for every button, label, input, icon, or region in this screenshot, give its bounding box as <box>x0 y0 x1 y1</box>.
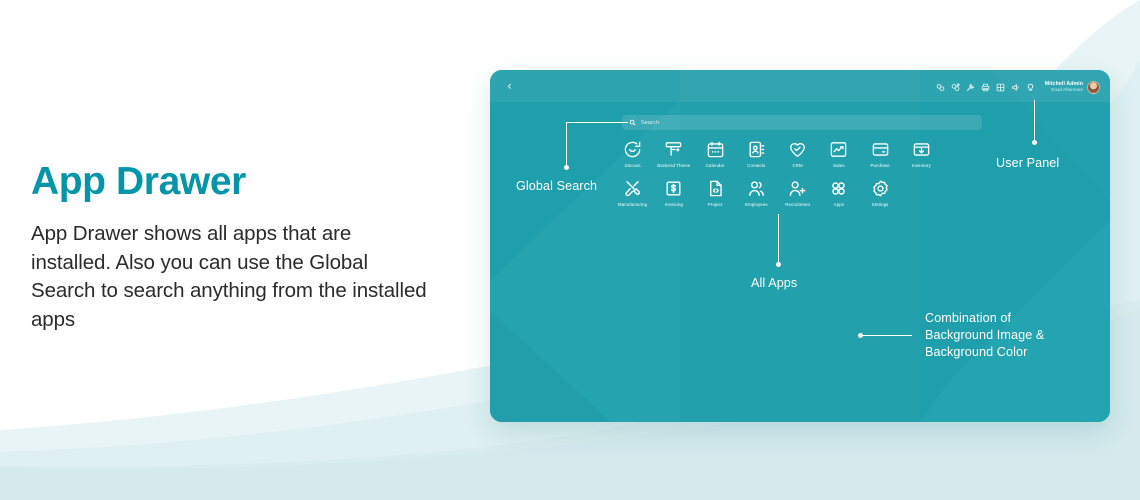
back-button[interactable]: ‹ <box>507 80 512 92</box>
project-icon <box>706 179 725 198</box>
app-crm[interactable]: CRM <box>777 140 818 168</box>
discuss-icon <box>623 140 642 159</box>
background-leader-dot <box>858 333 863 338</box>
app-discuss[interactable]: Discuss <box>612 140 653 168</box>
settings-icon <box>871 179 890 198</box>
avatar[interactable] <box>1087 81 1100 94</box>
invoicing-icon <box>664 179 683 198</box>
grid-icon[interactable] <box>996 83 1005 92</box>
app-apps[interactable]: Apps <box>818 179 859 207</box>
app-label: Apps <box>834 202 844 207</box>
manufacturing-icon <box>623 179 642 198</box>
all-apps-leader-vertical <box>778 214 779 264</box>
background-leader-horizontal <box>862 335 912 336</box>
app-label: Employees <box>745 202 768 207</box>
app-settings[interactable]: Settings <box>860 179 901 207</box>
annotation-background-line1: Combination of <box>925 310 1115 327</box>
app-inventory[interactable]: Inventory <box>901 140 942 168</box>
app-label: Sales <box>833 163 845 168</box>
bulb-icon[interactable] <box>1026 83 1035 92</box>
all-apps-leader-dot <box>776 262 781 267</box>
search-placeholder: Search <box>641 120 659 126</box>
annotation-background-line3: Background Color <box>925 344 1115 361</box>
global-search-leader-vertical <box>566 122 567 167</box>
app-employees[interactable]: Employees <box>736 179 777 207</box>
backend-theme-icon <box>664 140 683 159</box>
app-project[interactable]: Project <box>695 179 736 207</box>
inventory-icon <box>912 140 931 159</box>
app-calendar[interactable]: Calendar <box>695 140 736 168</box>
user-panel[interactable]: Mitchell Admin Good Afternoon <box>1045 81 1100 94</box>
shortcut-icon[interactable] <box>966 83 975 92</box>
global-search-leader-dot <box>564 165 569 170</box>
purchase-icon <box>871 140 890 159</box>
global-search-leader-horizontal <box>566 122 628 123</box>
annotation-background-line2: Background Image & <box>925 327 1115 344</box>
app-manufacturing[interactable]: Manufacturing <box>612 179 653 207</box>
app-label: Discuss <box>625 163 641 168</box>
app-invoicing[interactable]: Invoicing <box>653 179 694 207</box>
messages-icon[interactable] <box>951 83 960 92</box>
app-label: Backend Theme <box>657 163 690 168</box>
app-label: Contacts <box>747 163 765 168</box>
calendar-icon <box>706 140 725 159</box>
annotation-background: Combination of Background Image & Backgr… <box>925 310 1115 361</box>
app-label: Manufacturing <box>618 202 647 207</box>
user-panel-leader-dot <box>1032 140 1037 145</box>
app-purchase[interactable]: Purchase <box>860 140 901 168</box>
app-label: Calendar <box>706 163 725 168</box>
app-recruitment[interactable]: Recruitment <box>777 179 818 207</box>
slide-canvas: App Drawer App Drawer shows all apps tha… <box>0 0 1140 500</box>
app-label: Project <box>708 202 722 207</box>
search-input[interactable]: Search <box>622 115 982 130</box>
copy-block: App Drawer App Drawer shows all apps tha… <box>31 160 431 334</box>
print-icon[interactable] <box>981 83 990 92</box>
app-contacts[interactable]: Contacts <box>736 140 777 168</box>
crm-icon <box>788 140 807 159</box>
megaphone-icon[interactable] <box>1011 83 1020 92</box>
user-panel-leader-vertical <box>1034 100 1035 142</box>
recruitment-icon <box>788 179 807 198</box>
systray: Mitchell Admin Good Afternoon <box>936 76 1100 98</box>
app-label: Recruitment <box>785 202 810 207</box>
sales-icon <box>829 140 848 159</box>
annotation-global-search: Global Search <box>516 178 597 195</box>
app-label: CRM <box>793 163 803 168</box>
employees-icon <box>747 179 766 198</box>
activities-icon[interactable] <box>936 83 945 92</box>
app-backend-theme[interactable]: Backend Theme <box>653 140 694 168</box>
user-greeting: Good Afternoon <box>1045 87 1083 92</box>
annotation-user-panel: User Panel <box>996 155 1059 172</box>
app-label: Inventory <box>912 163 931 168</box>
page-description: App Drawer shows all apps that are insta… <box>31 220 431 334</box>
page-title: App Drawer <box>31 160 431 204</box>
search-icon <box>629 119 636 126</box>
app-sales[interactable]: Sales <box>818 140 859 168</box>
app-label: Settings <box>872 202 889 207</box>
app-label: Invoicing <box>665 202 683 207</box>
contacts-icon <box>747 140 766 159</box>
annotation-all-apps: All Apps <box>751 275 797 292</box>
app-label: Purchase <box>870 163 889 168</box>
app-grid: Discuss Backend Theme <box>612 140 942 207</box>
apps-icon <box>829 179 848 198</box>
